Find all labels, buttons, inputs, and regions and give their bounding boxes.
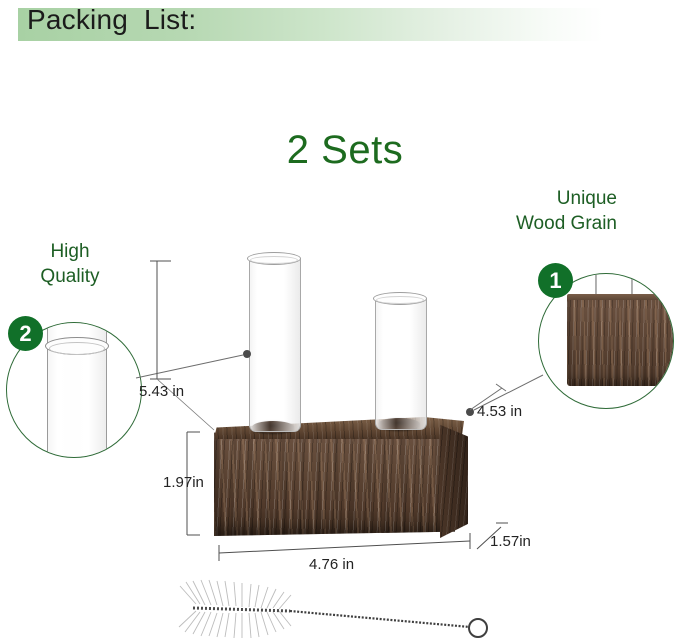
glass-tube-short bbox=[375, 292, 425, 430]
magnified-tube-rim-inner bbox=[49, 342, 105, 355]
glass-tube-short-body bbox=[375, 298, 427, 430]
dimension-line-tube-height bbox=[150, 261, 214, 430]
dimension-label-diagonal: 4.53 in bbox=[477, 403, 522, 421]
dimension-label-block-height: 1.97in bbox=[163, 474, 204, 492]
glass-tube-short-rim bbox=[373, 292, 427, 305]
brush-bristles bbox=[179, 580, 291, 638]
quantity-headline: 2 Sets bbox=[0, 126, 679, 174]
brush-core-wire bbox=[193, 608, 290, 611]
brush-handle bbox=[290, 611, 470, 627]
callout-label-high-quality: High Quality bbox=[18, 239, 122, 289]
dimension-label-block-width: 4.76 in bbox=[309, 556, 354, 574]
brush-loop bbox=[469, 619, 487, 637]
callout-badge-1: 1 bbox=[538, 263, 573, 298]
glass-tube-tall bbox=[249, 252, 299, 432]
glass-tube-tall-body bbox=[249, 258, 301, 432]
callout-label-unique-wood-grain: Unique Wood Grain bbox=[516, 186, 617, 236]
dimension-label-block-depth: 1.57in bbox=[490, 533, 531, 551]
glass-tube-tall-rim bbox=[247, 252, 301, 265]
page-title: Packing List: bbox=[27, 3, 196, 37]
packing-list-infographic: Packing List: 2 Sets Unique Wood Grain H… bbox=[0, 0, 679, 639]
glass-tube-tall-rim-inner bbox=[250, 256, 298, 264]
glass-tube-short-rim-inner bbox=[376, 296, 424, 304]
magnified-wood-front-face bbox=[567, 300, 674, 386]
cleaning-brush bbox=[179, 580, 487, 638]
wood-block-side-face bbox=[440, 420, 468, 538]
callout-badge-2: 2 bbox=[8, 316, 43, 351]
wood-block-front-face bbox=[214, 426, 455, 536]
dimension-label-tube-height: 5.43 in bbox=[139, 383, 184, 401]
leader-line-glass-quality bbox=[136, 350, 251, 378]
